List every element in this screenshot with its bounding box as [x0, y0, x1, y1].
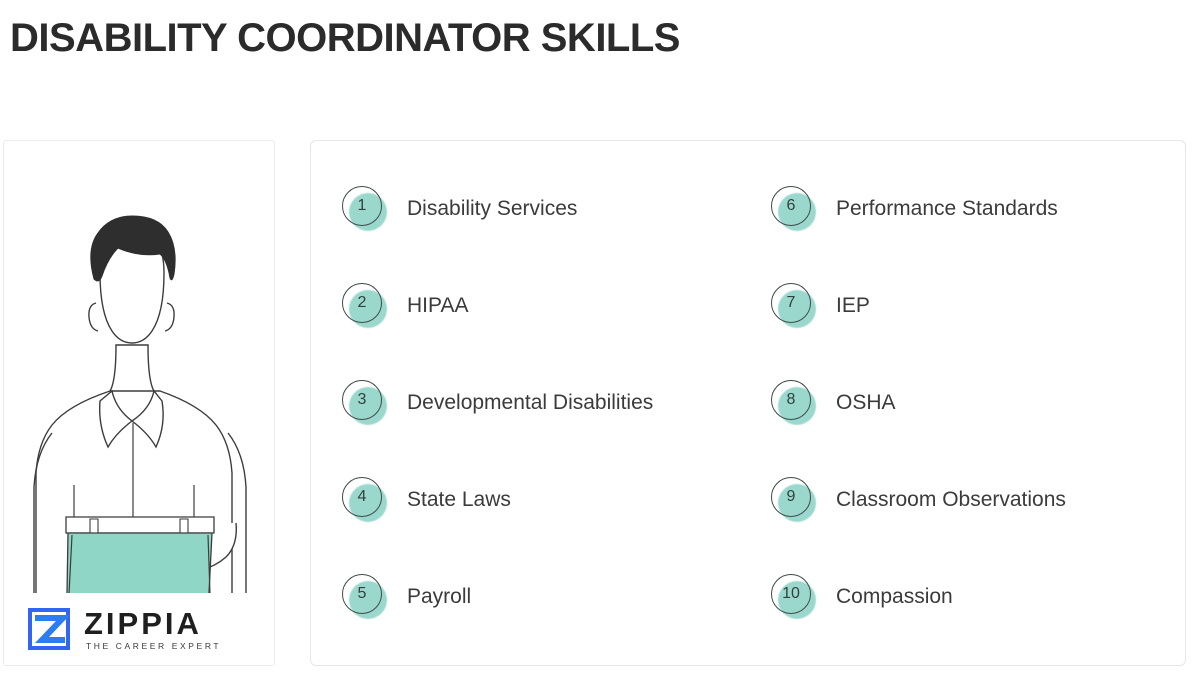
skill-item[interactable]: 2 HIPAA: [341, 258, 748, 355]
skill-number-badge: 10: [770, 573, 818, 621]
page-title: DISABILITY COORDINATOR SKILLS: [10, 14, 680, 62]
skill-label: State Laws: [407, 487, 511, 513]
skill-item[interactable]: 8 OSHA: [770, 355, 1185, 452]
skill-label: Classroom Observations: [836, 487, 1066, 513]
skill-number-badge: 9: [770, 476, 818, 524]
zippia-wordmark: ZIPPIA THE CAREER EXPERT: [84, 606, 221, 652]
badge-number: 9: [771, 477, 811, 517]
brand-tagline: THE CAREER EXPERT: [84, 640, 221, 652]
skill-number-badge: 1: [341, 185, 389, 233]
badge-number: 3: [342, 380, 382, 420]
skill-number-badge: 4: [341, 476, 389, 524]
skill-label: Payroll: [407, 584, 471, 610]
skill-number-badge: 3: [341, 379, 389, 427]
skill-item[interactable]: 3 Developmental Disabilities: [341, 355, 748, 452]
brand-name: ZIPPIA: [84, 608, 221, 640]
skill-item[interactable]: 7 IEP: [770, 258, 1185, 355]
skills-card: 1 Disability Services 2 HIPAA 3 Devel: [310, 140, 1186, 666]
badge-number: 2: [342, 283, 382, 323]
illustration-panel: ZIPPIA THE CAREER EXPERT: [3, 140, 275, 666]
skill-number-badge: 2: [341, 282, 389, 330]
badge-number: 4: [342, 477, 382, 517]
badge-number: 1: [342, 186, 382, 226]
skill-item[interactable]: 4 State Laws: [341, 452, 748, 549]
skill-number-badge: 8: [770, 379, 818, 427]
skill-item[interactable]: 1 Disability Services: [341, 161, 748, 258]
skill-label: HIPAA: [407, 293, 468, 319]
skill-label: Disability Services: [407, 196, 577, 222]
skill-number-badge: 5: [341, 573, 389, 621]
skills-right-column: 6 Performance Standards 7 IEP 8 OSHA: [748, 141, 1185, 665]
skill-number-badge: 6: [770, 185, 818, 233]
badge-number: 5: [342, 574, 382, 614]
skill-label: OSHA: [836, 390, 896, 416]
skills-left-column: 1 Disability Services 2 HIPAA 3 Devel: [311, 141, 748, 665]
skill-label: Performance Standards: [836, 196, 1058, 222]
skill-label: IEP: [836, 293, 870, 319]
skill-item[interactable]: 5 Payroll: [341, 549, 748, 646]
zippia-z-mark-icon: [26, 606, 72, 652]
skill-item[interactable]: 9 Classroom Observations: [770, 452, 1185, 549]
badge-number: 7: [771, 283, 811, 323]
skill-label: Developmental Disabilities: [407, 390, 653, 416]
skill-item[interactable]: 6 Performance Standards: [770, 161, 1185, 258]
skill-number-badge: 7: [770, 282, 818, 330]
zippia-logo: ZIPPIA THE CAREER EXPERT: [26, 601, 256, 657]
skill-item[interactable]: 10 Compassion: [770, 549, 1185, 646]
badge-number: 10: [771, 574, 811, 614]
skills-columns: 1 Disability Services 2 HIPAA 3 Devel: [311, 141, 1185, 665]
skill-label: Compassion: [836, 584, 953, 610]
badge-number: 8: [771, 380, 811, 420]
badge-number: 6: [771, 186, 811, 226]
